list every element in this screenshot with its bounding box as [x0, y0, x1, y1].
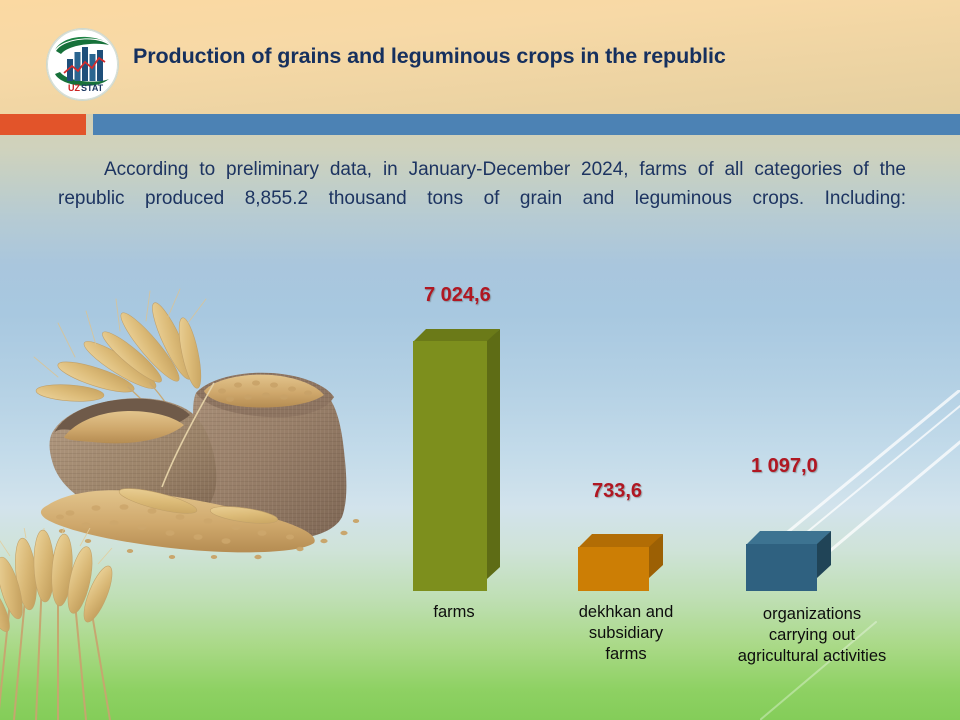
bar-farms[interactable] [413, 329, 513, 591]
category-label-dekhkan: dekhkan and subsidiary farms [552, 602, 700, 665]
accent-bar-orange [0, 114, 86, 135]
category-label-organizations: organizations carrying out agricultural … [692, 604, 932, 667]
bar-organizations-front-face [746, 544, 817, 591]
category-label-farms: farms [394, 602, 514, 623]
body-paragraph: According to preliminary data, in Januar… [58, 155, 906, 242]
logo-wordmark-stat: STAT [81, 83, 104, 93]
logo-wordmark-uz: UZ [68, 83, 80, 93]
accent-bar-blue [93, 114, 960, 135]
slide: UZ STAT Production of grains and legumin… [0, 0, 960, 720]
uzstat-logo: UZ STAT [47, 29, 118, 100]
uzstat-logo-icon: UZ STAT [47, 29, 118, 100]
bar-value-label-organizations: 1 097,0 [751, 455, 818, 478]
bar-farms-front-face [413, 341, 487, 591]
bar-organizations[interactable] [746, 531, 840, 591]
bar-dekhkan-front-face [578, 547, 649, 591]
bar-farms-side-face [487, 329, 500, 579]
page-title: Production of grains and leguminous crop… [133, 44, 933, 69]
bar-dekhkan-farms[interactable] [578, 534, 672, 591]
wheat-sheaf-photo [0, 528, 162, 720]
bar-value-label-farms: 7 024,6 [424, 284, 491, 307]
bar-value-label-dekhkan: 733,6 [592, 480, 642, 503]
